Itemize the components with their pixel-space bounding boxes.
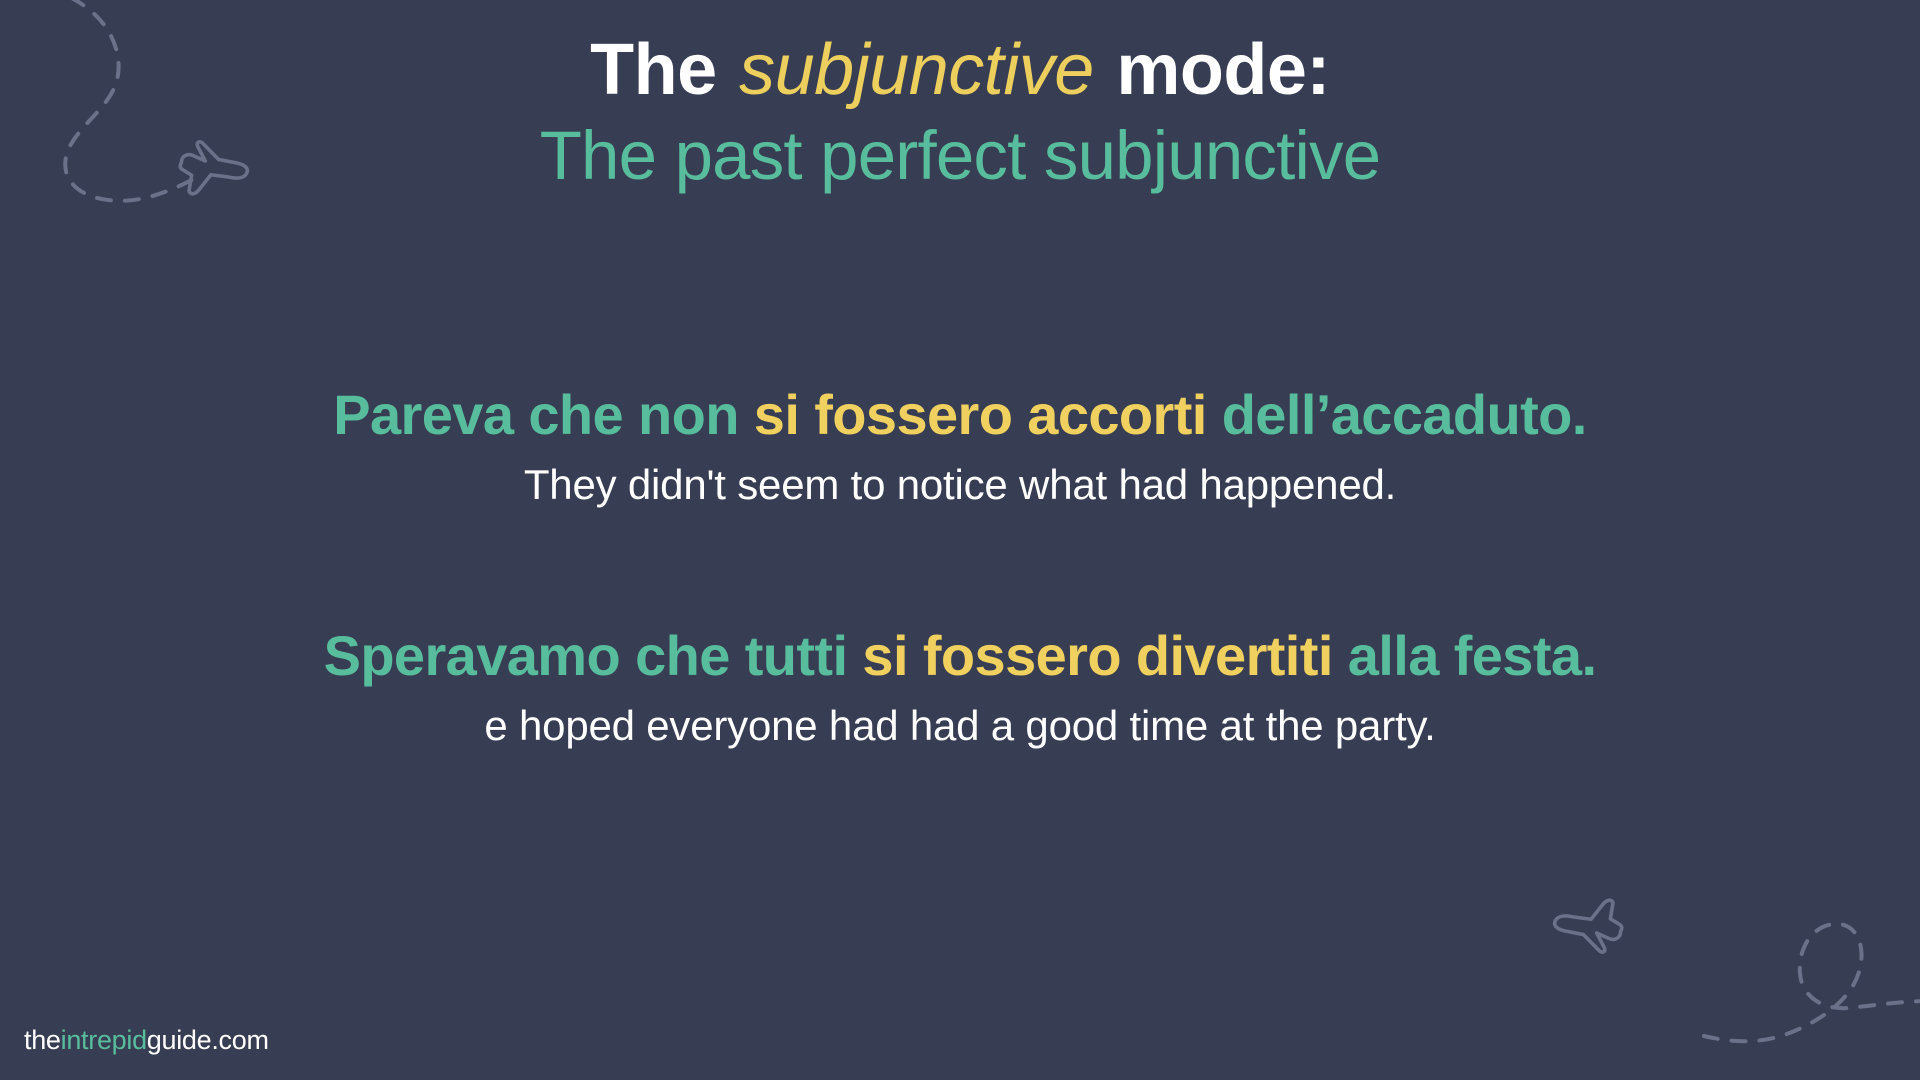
page-title: The subjunctive mode: The past perfect s… <box>0 34 1920 192</box>
italian-sentence-1: Pareva che non si fossero accorti dell’a… <box>0 385 1920 445</box>
english-translation-2: e hoped everyone had had a good time at … <box>0 703 1920 749</box>
title-word-the: The <box>590 30 717 110</box>
italian-2-highlight: si fossero divertiti <box>862 624 1332 687</box>
title-word-mode: mode: <box>1116 30 1330 110</box>
example-item-2: Speravamo che tutti si fossero divertiti… <box>0 626 1920 750</box>
title-word-subjunctive: subjunctive <box>736 30 1097 110</box>
italian-1-suffix: dell’accaduto. <box>1222 383 1587 446</box>
logo-part-intrepid: intrepid <box>61 1025 147 1055</box>
italian-1-highlight: si fossero accorti <box>754 383 1207 446</box>
logo-part-guide: guide.com <box>147 1025 269 1055</box>
italian-2-suffix: alla festa. <box>1348 624 1597 687</box>
site-logo[interactable]: theintrepidguide.com <box>24 1025 269 1056</box>
italian-1-prefix: Pareva che non <box>333 383 739 446</box>
italian-2-prefix: Speravamo che tutti <box>324 624 848 687</box>
title-line-primary: The subjunctive mode: <box>0 34 1920 107</box>
logo-part-the: the <box>24 1025 61 1055</box>
english-translation-1: They didn't seem to notice what had happ… <box>0 462 1920 508</box>
title-line-secondary: The past perfect subjunctive <box>0 121 1920 191</box>
examples-list: Pareva che non si fossero accorti dell’a… <box>0 385 1920 749</box>
italian-sentence-2: Speravamo che tutti si fossero divertiti… <box>0 626 1920 686</box>
slide-canvas: The subjunctive mode: The past perfect s… <box>0 0 1920 1080</box>
example-item-1: Pareva che non si fossero accorti dell’a… <box>0 385 1920 509</box>
airplane-loop-dashed-path-bottom-right-icon <box>1530 856 1920 1076</box>
